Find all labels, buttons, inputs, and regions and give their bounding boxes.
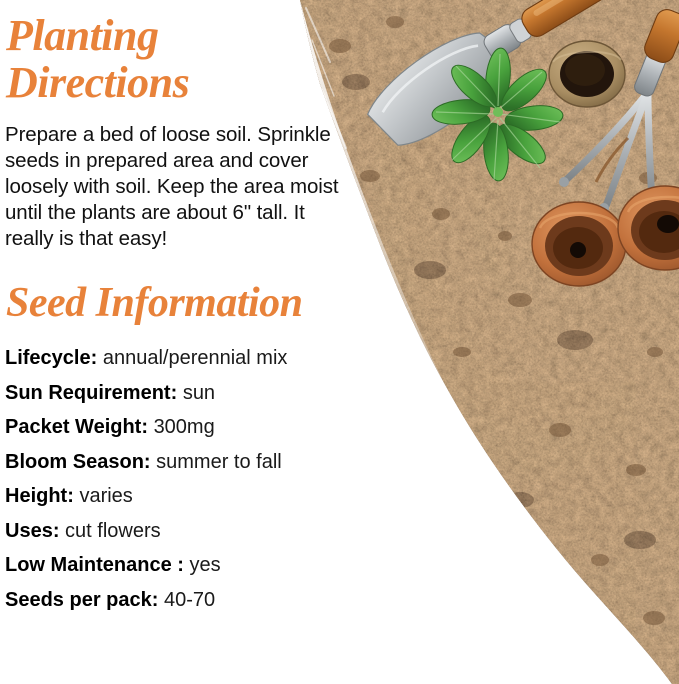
spec-row: Bloom Season: summer to fall bbox=[5, 452, 395, 472]
spec-row: Uses: cut flowers bbox=[5, 521, 395, 541]
spec-row: Lifecycle: annual/perennial mix bbox=[5, 348, 395, 368]
spec-row: Sun Requirement: sun bbox=[5, 383, 395, 403]
spec-value: annual/perennial mix bbox=[103, 347, 288, 369]
spec-row: Packet Weight: 300mg bbox=[5, 417, 395, 437]
planting-directions-heading: Planting Directions bbox=[6, 14, 189, 105]
text-column: Planting Directions Prepare a bed of loo… bbox=[0, 0, 400, 684]
seed-packet-panel: Planting Directions Prepare a bed of loo… bbox=[0, 0, 679, 684]
spec-row: Height: varies bbox=[5, 486, 395, 506]
spec-label: Uses: bbox=[5, 520, 59, 542]
spec-label: Sun Requirement: bbox=[5, 382, 177, 404]
spec-value: varies bbox=[79, 485, 132, 507]
spec-value: 300mg bbox=[154, 416, 215, 438]
spec-label: Low Maintenance : bbox=[5, 554, 184, 576]
seed-information-list: Lifecycle: annual/perennial mixSun Requi… bbox=[5, 348, 395, 624]
spec-label: Bloom Season: bbox=[5, 451, 151, 473]
spec-label: Seeds per pack: bbox=[5, 589, 158, 611]
terracotta-pot-left-icon bbox=[532, 202, 626, 286]
heading-line-2: Directions bbox=[6, 61, 189, 105]
spec-value: sun bbox=[183, 382, 215, 404]
spec-label: Lifecycle: bbox=[5, 347, 97, 369]
spec-value: cut flowers bbox=[65, 520, 161, 542]
spec-row: Seeds per pack: 40-70 bbox=[5, 590, 395, 610]
peat-pot-icon bbox=[549, 41, 625, 107]
spec-label: Packet Weight: bbox=[5, 416, 148, 438]
spec-row: Low Maintenance : yes bbox=[5, 555, 395, 575]
spec-label: Height: bbox=[5, 485, 74, 507]
spec-value: summer to fall bbox=[156, 451, 282, 473]
heading-line-1: Planting bbox=[6, 14, 189, 58]
spec-value: yes bbox=[189, 554, 220, 576]
seed-information-heading: Seed Information bbox=[6, 282, 303, 324]
spec-value: 40-70 bbox=[164, 589, 215, 611]
planting-instructions-text: Prepare a bed of loose soil. Sprinkle se… bbox=[5, 122, 351, 252]
